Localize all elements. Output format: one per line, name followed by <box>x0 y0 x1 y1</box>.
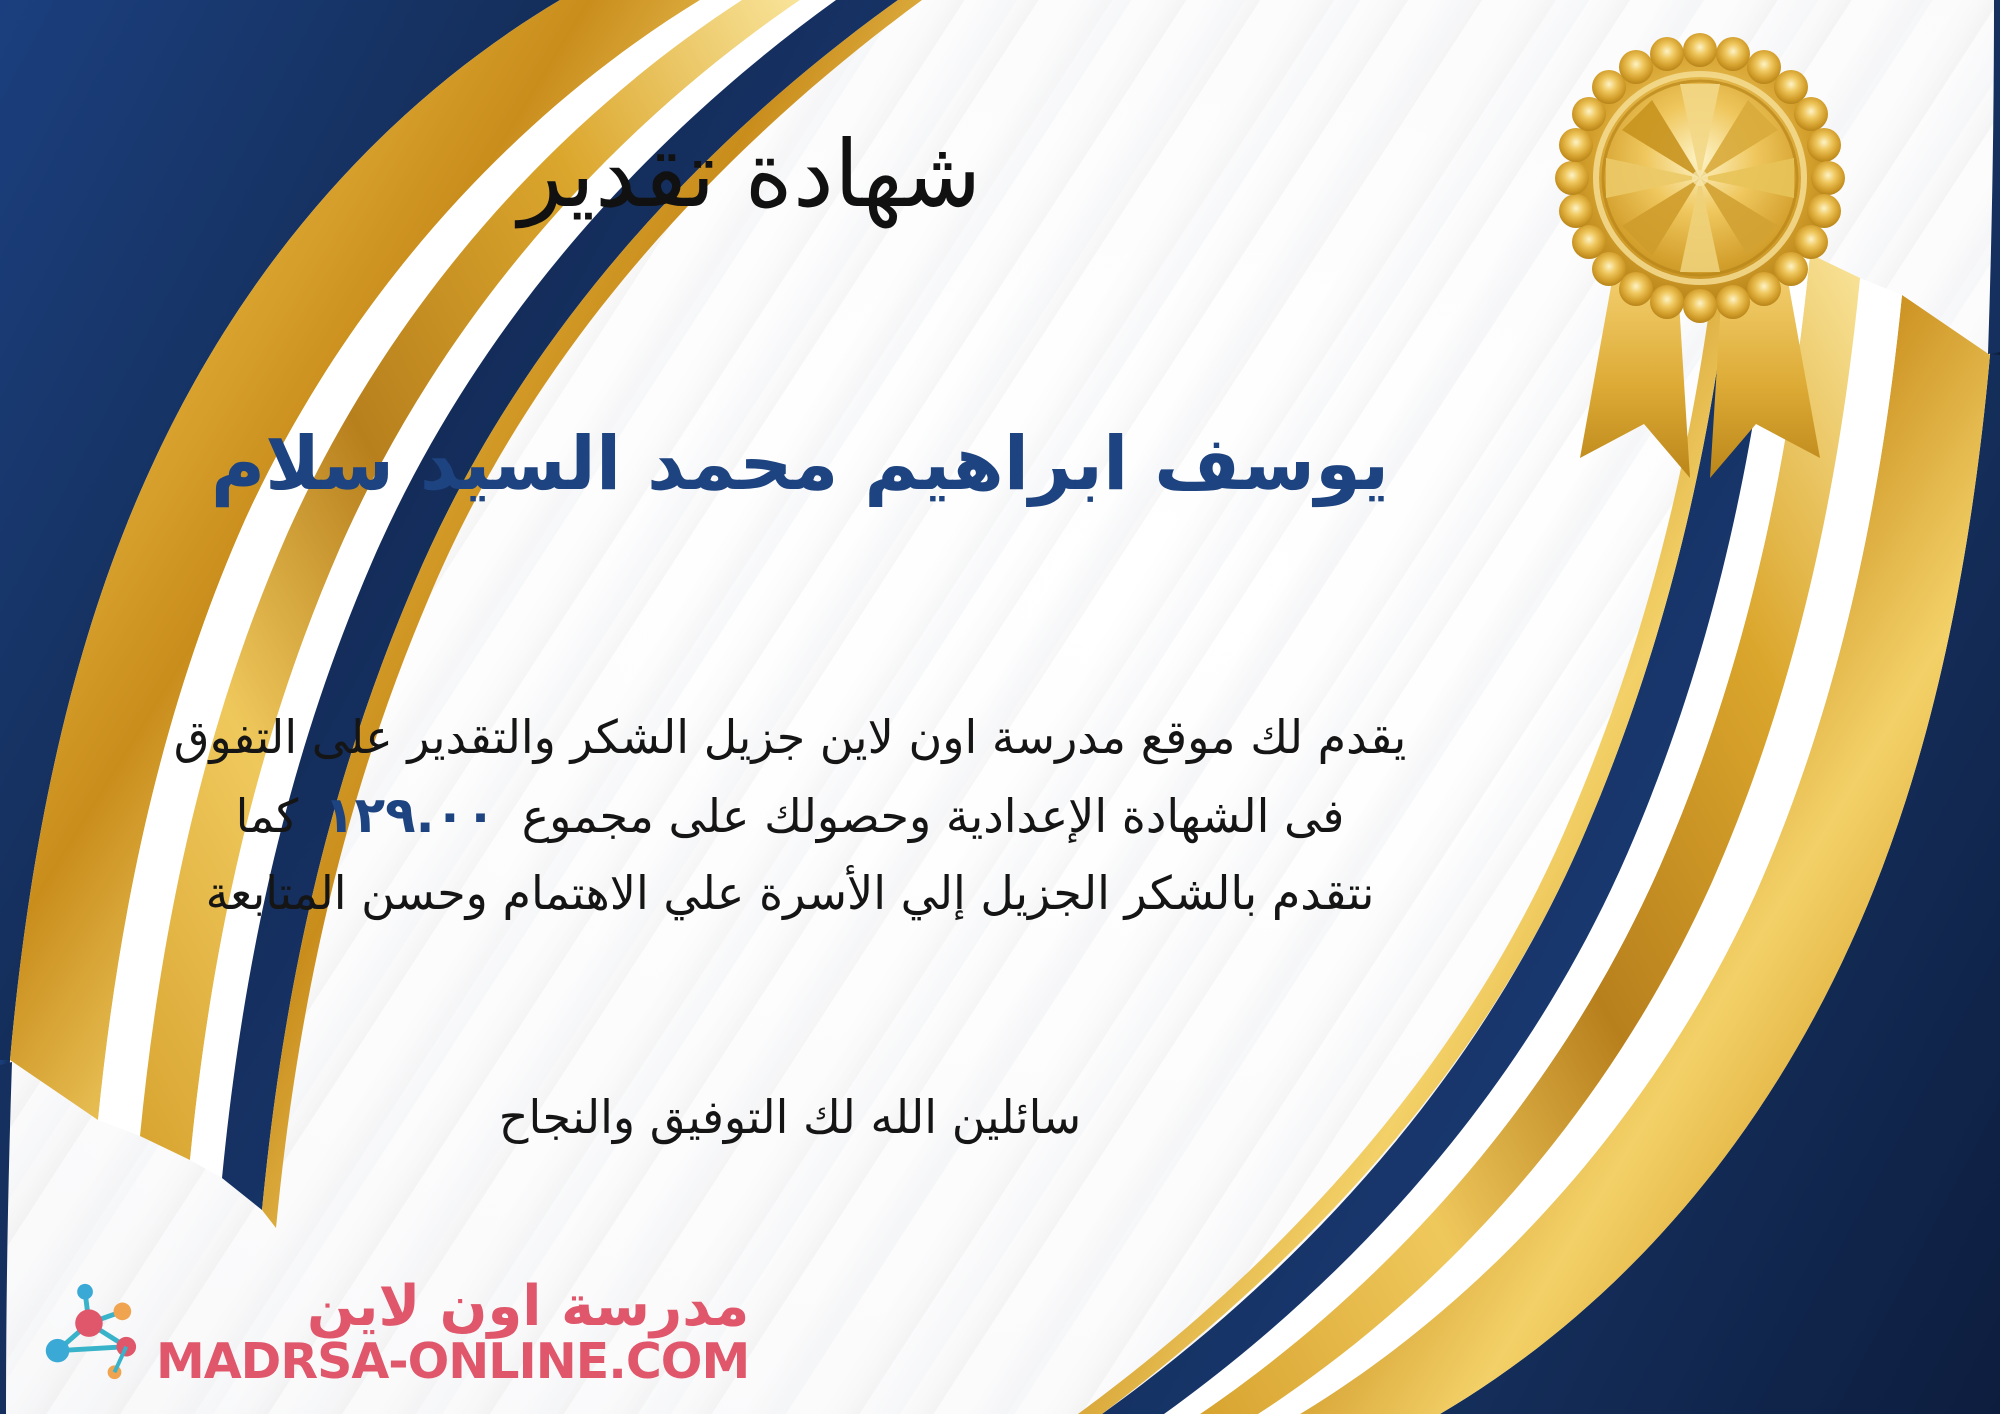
brand-name-english: MADRSA-ONLINE.COM <box>156 1337 749 1386</box>
brand-name-arabic: مدرسة اون لاين <box>307 1279 749 1335</box>
body-line-2: فى الشهادة الإعدادية وحصولك على مجموع١٢٩… <box>20 775 1560 856</box>
body-line-2-suffix: كما <box>236 789 299 843</box>
certificate-page: شهادة تقدير يوسف ابراهيم محمد السيد سلام… <box>0 0 2000 1414</box>
certificate-body: يقدم لك موقع مدرسة اون لاين جزيل الشكر و… <box>20 700 1560 930</box>
closing-line: سائلين الله لك التوفيق والنجاح <box>20 1090 1560 1144</box>
student-name: يوسف ابراهيم محمد السيد سلام <box>0 420 1600 509</box>
body-line-2-prefix: فى الشهادة الإعدادية وحصولك على مجموع <box>522 789 1345 843</box>
body-line-1: يقدم لك موقع مدرسة اون لاين جزيل الشكر و… <box>20 700 1560 775</box>
page-title: شهادة تقدير <box>0 122 1500 228</box>
grade-value: ١٢٩.٠٠ <box>298 786 522 844</box>
brand-text: مدرسة اون لاين MADRSA-ONLINE.COM <box>156 1279 749 1386</box>
network-nodes-icon <box>28 1278 146 1386</box>
brand-logo[interactable]: مدرسة اون لاين MADRSA-ONLINE.COM <box>28 1278 749 1386</box>
body-line-3: نتقدم بالشكر الجزيل إلي الأسرة علي الاهت… <box>20 856 1560 931</box>
